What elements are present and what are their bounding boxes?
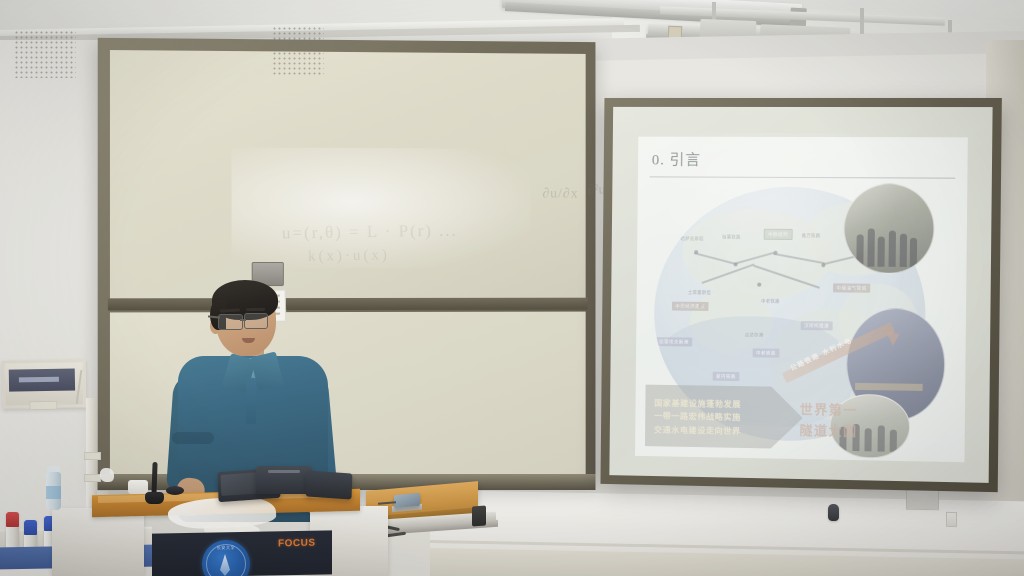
- eyeglasses-lens-left: [218, 314, 243, 330]
- desk-device[interactable]: [394, 493, 420, 508]
- map-callout-box: 比雷埃夫斯港: [656, 337, 692, 347]
- marker-cap: [6, 512, 19, 527]
- map-label: 匈塞铁路: [722, 234, 741, 240]
- map-callout-box: 汉班托塔港: [801, 321, 833, 331]
- pipe-ring: [84, 452, 101, 460]
- slogan-line-2: 隧道大国: [799, 420, 857, 440]
- map-label: 哈萨克斯坦: [681, 236, 704, 242]
- eyeglasses-bridge: [240, 319, 246, 321]
- podium-monitor-center[interactable]: [256, 466, 312, 494]
- map-label: 土库曼斯坦: [688, 290, 711, 296]
- remote-puck[interactable]: [166, 486, 184, 495]
- speaker-grill-left: [14, 30, 76, 78]
- map-callout-box: 中缅油气管道: [833, 283, 870, 293]
- wall-control-panel[interactable]: [2, 359, 87, 408]
- presenter-shirt-placket: [246, 378, 256, 424]
- presenter-sleeve-fold: [172, 432, 214, 444]
- route-node: [694, 250, 698, 254]
- power-outlet: [472, 506, 486, 527]
- microphone-base: [145, 492, 164, 504]
- wall-sensor: [828, 504, 839, 521]
- map-callout-box: 中老铁路: [753, 348, 780, 358]
- map-callout-box: 中巴经济走廊: [672, 302, 708, 312]
- tissue: [100, 468, 114, 482]
- presenter-eyebrow: [246, 308, 265, 311]
- slide-slogan: 世界第一 隧道大国: [799, 399, 858, 440]
- route-node: [757, 283, 761, 287]
- podium-brand-logo: FOCUS: [278, 538, 316, 550]
- slogan-line-1: 世界第一: [800, 399, 858, 419]
- route-node: [821, 263, 825, 267]
- control-panel-tab: [29, 401, 57, 410]
- route-node: [773, 251, 777, 255]
- eyeglasses-lens-right: [244, 313, 268, 329]
- whiteboard-upper-surface: u=(r,θ) = L · P(r) ... k(x)·u(x) ∂u/∂x ∂…: [110, 50, 586, 304]
- tissue-box: [128, 480, 148, 494]
- marker-pen[interactable]: [6, 512, 19, 552]
- whiteboard-glare: [232, 147, 531, 268]
- route-node: [734, 262, 738, 266]
- map-label: 中老铁路: [761, 299, 780, 305]
- callout-line-3: 交通水电建设走向世界: [654, 423, 803, 438]
- photo-inset-ceremony: [843, 183, 935, 274]
- slide-title-rule: [650, 176, 956, 178]
- callout-line-1: 国家基建设施蓬勃发展: [654, 396, 803, 410]
- map-label: 瓜达尔港: [745, 332, 764, 338]
- wall-switch[interactable]: [946, 512, 957, 527]
- lectern-podium: 长安大学 FOCUS: [52, 492, 392, 576]
- podium-left-speaker-cabinet: [52, 508, 144, 576]
- map-callout-box: 中欧班列: [764, 229, 793, 240]
- marker-cap: [24, 520, 37, 535]
- pipe-ring: [84, 474, 101, 482]
- podium-monitor-right[interactable]: [306, 470, 353, 499]
- classroom-photo: u=(r,θ) = L · P(r) ... k(x)·u(x) ∂u/∂x ∂…: [0, 0, 1024, 576]
- projection-screen: 0. 引言: [600, 98, 1001, 492]
- control-panel-display: [9, 368, 75, 391]
- rising-arrow-graphic: 公路铁路 水利水电: [784, 333, 913, 395]
- callout-line-2: 一带一路宏伟战略实施: [654, 410, 803, 425]
- projection-screen-surface: 0. 引言: [609, 107, 992, 483]
- presentation-slide: 0. 引言: [635, 137, 968, 463]
- map-label: 雅万铁路: [802, 233, 821, 239]
- speaker-grill-right: [272, 26, 324, 76]
- emblem-text: 长安大学: [202, 545, 250, 551]
- slide-title: 0. 引言: [652, 149, 701, 170]
- university-emblem: 长安大学: [202, 540, 250, 576]
- whiteboard-faint-writing: k(x)·u(x): [308, 247, 390, 265]
- map-callout-box: 蒙内铁路: [713, 372, 740, 382]
- water-bottle-label: [46, 486, 61, 499]
- photo-figures: [844, 220, 933, 267]
- whiteboard-faint-writing: ∂u/∂x: [542, 187, 578, 203]
- whiteboard-faint-writing: u=(r,θ) = L · P(r) ...: [282, 221, 458, 244]
